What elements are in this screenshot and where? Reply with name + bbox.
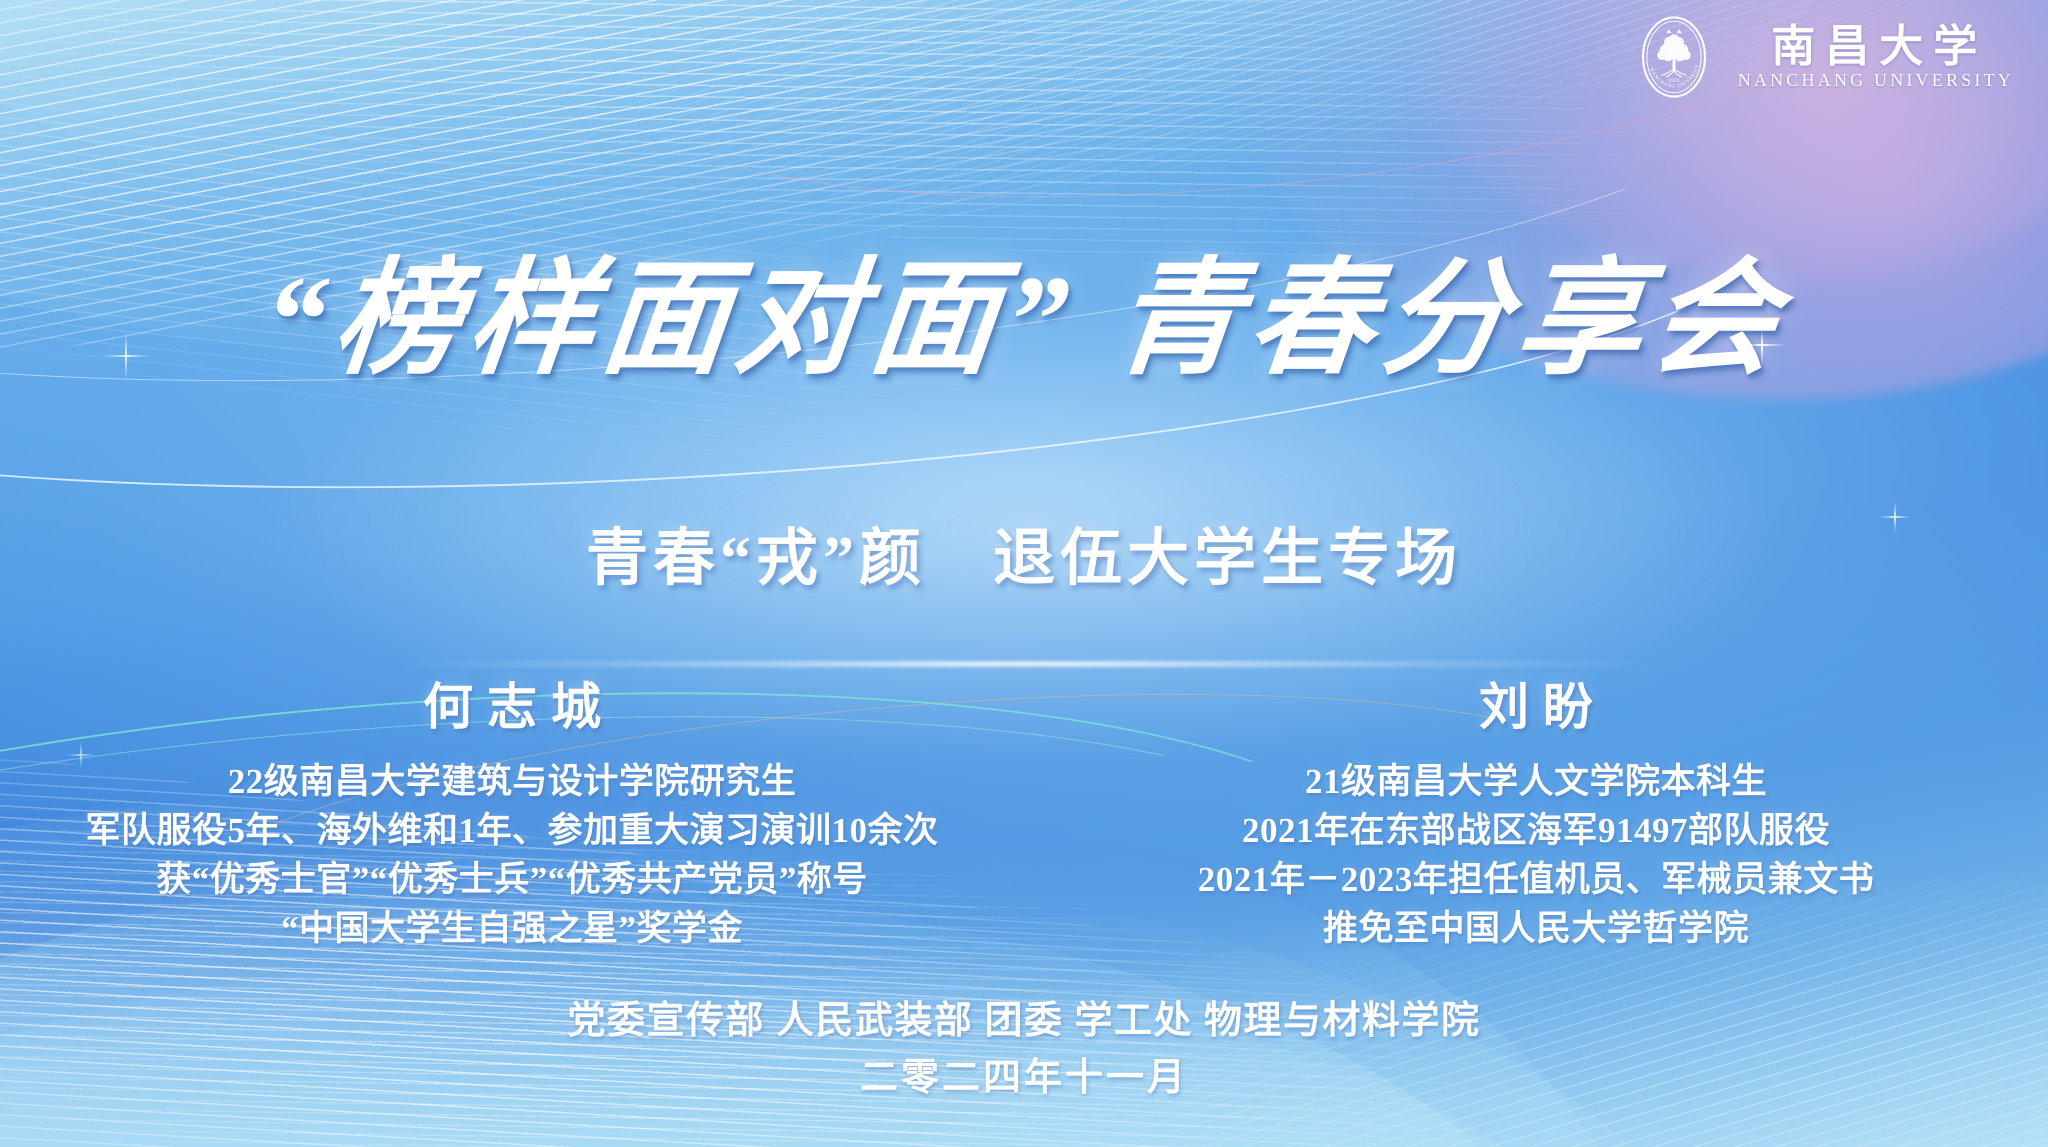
speaker-bio: 22级南昌大学建筑与设计学院研究生 军队服役5年、海外维和1年、参加重大演习演训… [24,757,1000,953]
speaker-bio-line: 推免至中国人民大学哲学院 [1048,904,2024,953]
speaker-bio: 21级南昌大学人文学院本科生 2021年在东部战区海军91497部队服役 202… [1048,757,2024,953]
speaker-bio-line: “中国大学生自强之星”奖学金 [24,904,1000,953]
logo-name-cn: 南昌大学 [1761,25,1987,69]
speaker-name: 刘盼 [1048,680,2024,735]
svg-text:1921: 1921 [1668,78,1679,84]
nanchang-university-seal-icon: 1921 NANCHANG UNIVERSITY [1631,14,1717,100]
page-subtitle: 青春“戎”颜 退伍大学生专场 [0,525,2048,593]
footer: 党委宣传部 人民武装部 团委 学工处 物理与材料学院 二零二四年十一月 [0,993,2048,1107]
speaker-name: 何志城 [24,680,1000,735]
logo-name-en: NANCHANG UNIVERSITY [1735,71,2014,89]
speaker-card-left: 何志城 22级南昌大学建筑与设计学院研究生 军队服役5年、海外维和1年、参加重大… [0,680,1024,953]
footer-date: 二零二四年十一月 [0,1050,2048,1107]
page-title: “榜样面对面” 青春分享会 [0,248,2048,394]
logo-wordmark: 南昌大学 NANCHANG UNIVERSITY [1735,25,2014,89]
university-logo: 1921 NANCHANG UNIVERSITY 南昌大学 NANCHANG U… [1631,14,2014,100]
poster-canvas: 1921 NANCHANG UNIVERSITY 南昌大学 NANCHANG U… [0,0,2048,1147]
speaker-list: 何志城 22级南昌大学建筑与设计学院研究生 军队服役5年、海外维和1年、参加重大… [0,680,2048,953]
divider [244,660,1804,668]
speaker-bio-line: 21级南昌大学人文学院本科生 [1048,757,2024,806]
speaker-bio-line: 获“优秀士官”“优秀士兵”“优秀共产党员”称号 [24,855,1000,904]
speaker-bio-line: 22级南昌大学建筑与设计学院研究生 [24,757,1000,806]
speaker-bio-line: 2021年－2023年担任值机员、军械员兼文书 [1048,855,2024,904]
poster-content: “榜样面对面” 青春分享会 青春“戎”颜 退伍大学生专场 何志城 22级南昌大学… [0,0,2048,1147]
speaker-bio-line: 军队服役5年、海外维和1年、参加重大演习演训10余次 [24,806,1000,855]
speaker-card-right: 刘盼 21级南昌大学人文学院本科生 2021年在东部战区海军91497部队服役 … [1024,680,2048,953]
speaker-bio-line: 2021年在东部战区海军91497部队服役 [1048,806,2024,855]
footer-organizers: 党委宣传部 人民武装部 团委 学工处 物理与材料学院 [0,993,2048,1050]
